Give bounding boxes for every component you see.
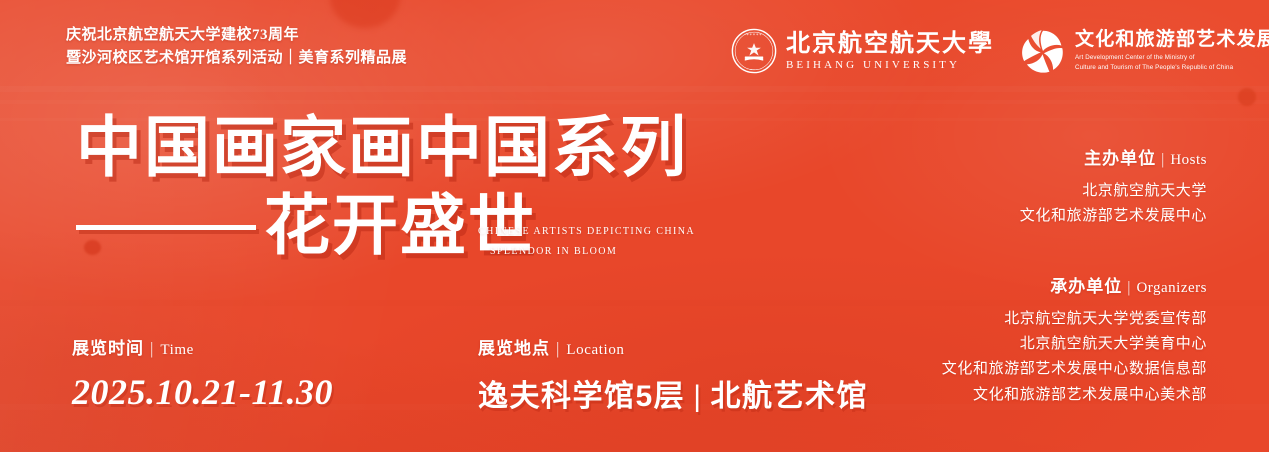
art-development-center-name: 文化和旅游部艺术发展中心 Art Development Center of t…	[1075, 30, 1269, 72]
location-label-en: Location	[566, 342, 624, 358]
host-item: 文化和旅游部艺术发展中心	[1020, 203, 1207, 228]
organizer-item: 北京航空航天大学美育中心	[942, 331, 1207, 356]
organizer-item: 文化和旅游部艺术发展中心美术部	[942, 382, 1207, 407]
time-label-en: Time	[160, 342, 194, 358]
beihang-name-cn: 北京航空航天大學	[786, 32, 994, 56]
art-development-center-logo: 文化和旅游部艺术发展中心 Art Development Center of t…	[1020, 28, 1269, 74]
hosts-separator: |	[1161, 151, 1165, 168]
exhibition-poster: 庆祝北京航空航天大学建校73周年 暨沙河校区艺术馆开馆系列活动｜美育系列精品展 …	[0, 0, 1269, 452]
time-value: 2025.10.21-11.30	[72, 371, 333, 413]
title-subtitle-en: CHINESE ARTISTS DEPICTING CHINA SPLENDOR…	[478, 222, 695, 261]
time-label-cn: 展览时间	[72, 339, 144, 358]
beihang-university-seal-icon: ＊＊＊＊＊ ･･････････	[731, 28, 777, 74]
header-line-1: 庆祝北京航空航天大学建校73周年	[66, 24, 407, 47]
exhibition-location-block: 展览地点|Location 逸夫科学馆5层|北航艺术馆	[478, 334, 868, 415]
organizer-item: 文化和旅游部艺术发展中心数据信息部	[942, 356, 1207, 381]
logo-group: ＊＊＊＊＊ ･･････････ 北京航空航天大學 BEIHANG UNIVER…	[731, 28, 1269, 74]
organizer-item: 北京航空航天大学党委宣传部	[942, 306, 1207, 331]
location-hall: 北航艺术馆	[710, 380, 868, 413]
location-value: 逸夫科学馆5层|北航艺术馆	[478, 371, 868, 415]
background-blob-right	[1238, 88, 1256, 106]
art-center-name-en-line-1: Art Development Center of the Ministry o…	[1075, 53, 1269, 63]
subtitle-en-line-1: CHINESE ARTISTS DEPICTING CHINA	[478, 222, 695, 242]
exhibition-time-block: 展览时间|Time 2025.10.21-11.30	[72, 334, 333, 413]
organizers-section: 承办单位|Organizers 北京航空航天大学党委宣传部 北京航空航天大学美育…	[942, 272, 1207, 407]
host-item: 北京航空航天大学	[1020, 178, 1207, 203]
header-line-2: 暨沙河校区艺术馆开馆系列活动｜美育系列精品展	[66, 47, 407, 70]
location-venue: 逸夫科学馆5层	[478, 380, 685, 413]
organizers-label-en: Organizers	[1136, 280, 1207, 296]
art-center-name-en-line-2: Culture and Tourism of The People's Repu…	[1075, 63, 1269, 73]
subtitle-en-line-2: SPLENDOR IN BLOOM	[478, 242, 695, 262]
art-development-center-mark-icon	[1020, 28, 1066, 74]
time-separator: |	[150, 339, 154, 358]
beihang-name-en: BEIHANG UNIVERSITY	[786, 60, 994, 71]
svg-text:･･････････: ･･････････	[747, 68, 761, 71]
time-heading: 展览时间|Time	[72, 334, 333, 359]
svg-text:＊＊＊＊＊: ＊＊＊＊＊	[746, 32, 762, 36]
hosts-section: 主办单位|Hosts 北京航空航天大学 文化和旅游部艺术发展中心	[1020, 144, 1207, 228]
title-line-1: 中国画家画中国系列	[0, 116, 720, 182]
title-em-dash	[76, 225, 256, 230]
header-announcement: 庆祝北京航空航天大学建校73周年 暨沙河校区艺术馆开馆系列活动｜美育系列精品展	[66, 24, 407, 69]
beihang-university-name: 北京航空航天大學 BEIHANG UNIVERSITY	[786, 32, 994, 71]
hosts-label-en: Hosts	[1170, 152, 1207, 168]
location-divider: |	[693, 380, 702, 413]
exhibition-title: 中国画家画中国系列 花开盛世 CHINESE ARTISTS DEPICTING…	[0, 116, 720, 260]
location-label-cn: 展览地点	[478, 339, 550, 358]
beihang-university-logo: ＊＊＊＊＊ ･･････････ 北京航空航天大學 BEIHANG UNIVER…	[731, 28, 994, 74]
art-center-name-cn: 文化和旅游部艺术发展中心	[1075, 30, 1269, 49]
hosts-heading: 主办单位|Hosts	[1020, 144, 1207, 169]
location-heading: 展览地点|Location	[478, 334, 868, 359]
organizers-heading: 承办单位|Organizers	[942, 272, 1207, 297]
art-center-name-en: Art Development Center of the Ministry o…	[1075, 53, 1269, 72]
hosts-label-cn: 主办单位	[1084, 149, 1156, 168]
organizers-label-cn: 承办单位	[1050, 277, 1122, 296]
location-separator: |	[556, 339, 560, 358]
organizers-separator: |	[1127, 279, 1131, 296]
